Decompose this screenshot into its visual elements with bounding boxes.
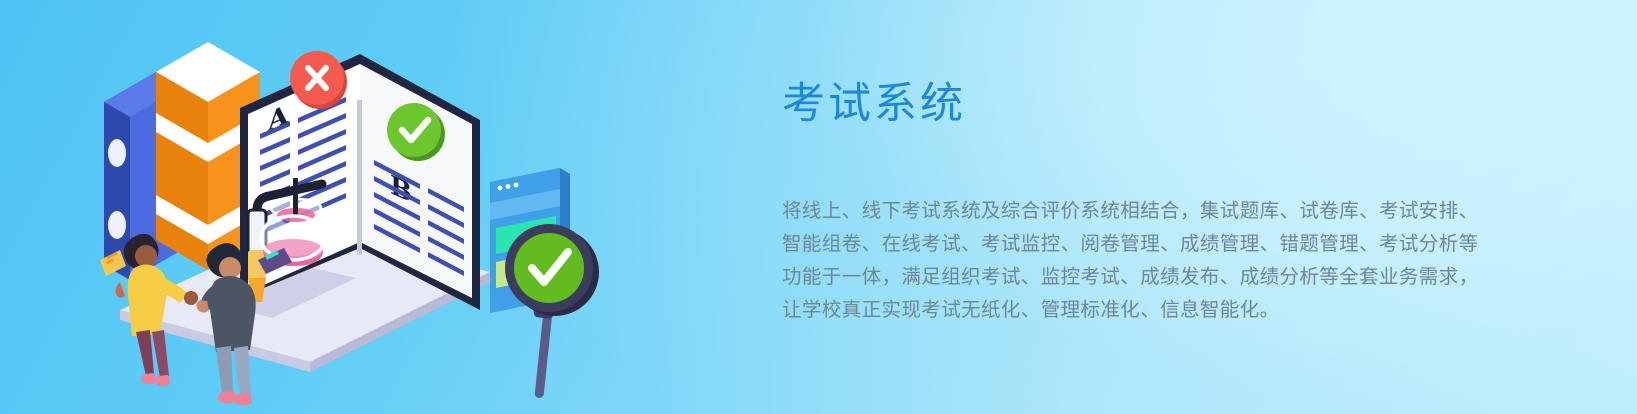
description-line-2: 智能组卷、在线考试、考试监控、阅卷管理、成绩管理、错题管理、考试分析等 xyxy=(782,227,1488,260)
magnifier-check-icon xyxy=(505,224,599,398)
banner-description: 将线上、线下考试系统及综合评价系统相结合，集试题库、试卷库、考试安排、 智能组卷… xyxy=(782,194,1488,326)
description-line-3: 功能于一体，满足组织考试、监控考试、成绩发布、成绩分析等全套业务需求， xyxy=(782,260,1488,293)
exam-system-isometric-illustration: A B xyxy=(60,10,680,410)
description-line-1: 将线上、线下考试系统及综合评价系统相结合，集试题库、试卷库、考试安排、 xyxy=(782,194,1488,227)
banner-text-column: 考试系统 将线上、线下考试系统及综合评价系统相结合，集试题库、试卷库、考试安排、… xyxy=(782,78,1502,326)
exam-system-banner: A B xyxy=(0,0,1637,414)
page-title: 考试系统 xyxy=(782,78,1502,132)
description-line-4: 让学校真正实现考试无纸化、管理标准化、信息智能化。 xyxy=(782,293,1488,326)
